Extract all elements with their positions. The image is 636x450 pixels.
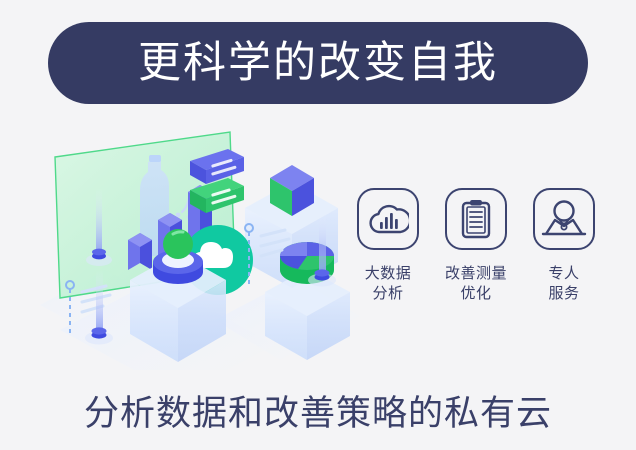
feature-label-big-data: 大数据 分析 [365, 263, 412, 304]
feature-label-dedicated-service: 专人 服务 [548, 263, 579, 304]
clipboard-icon [459, 198, 493, 240]
header-banner: 更科学的改变自我 [48, 22, 588, 104]
feature-label-measure-optimize: 改善测量 优化 [445, 263, 507, 304]
feature-label-line2: 分析 [365, 283, 412, 303]
feature-label-line1: 改善测量 [445, 263, 507, 283]
page-title: 更科学的改变自我 [138, 42, 498, 85]
feature-item-big-data[interactable]: 大数据 分析 [352, 188, 424, 304]
hero-illustration [30, 120, 360, 370]
poster-canvas: 更科学的改变自我 [0, 0, 636, 450]
feature-label-line2: 服务 [548, 283, 579, 303]
tagline: 分析数据和改善策略的私有云 [0, 385, 636, 436]
feature-icon-frame [533, 188, 595, 250]
cloud-bar-chart-icon [367, 201, 409, 237]
feature-item-measure-optimize[interactable]: 改善测量 优化 [440, 188, 512, 304]
feature-label-line1: 大数据 [365, 263, 412, 283]
feature-label-line1: 专人 [548, 263, 579, 283]
support-person-icon [541, 198, 587, 240]
feature-icon-frame [357, 188, 419, 250]
feature-icon-frame [445, 188, 507, 250]
feature-item-dedicated-service[interactable]: 专人 服务 [528, 188, 600, 304]
feature-list: 大数据 分析 改善测量 [352, 188, 600, 328]
feature-label-line2: 优化 [445, 283, 507, 303]
